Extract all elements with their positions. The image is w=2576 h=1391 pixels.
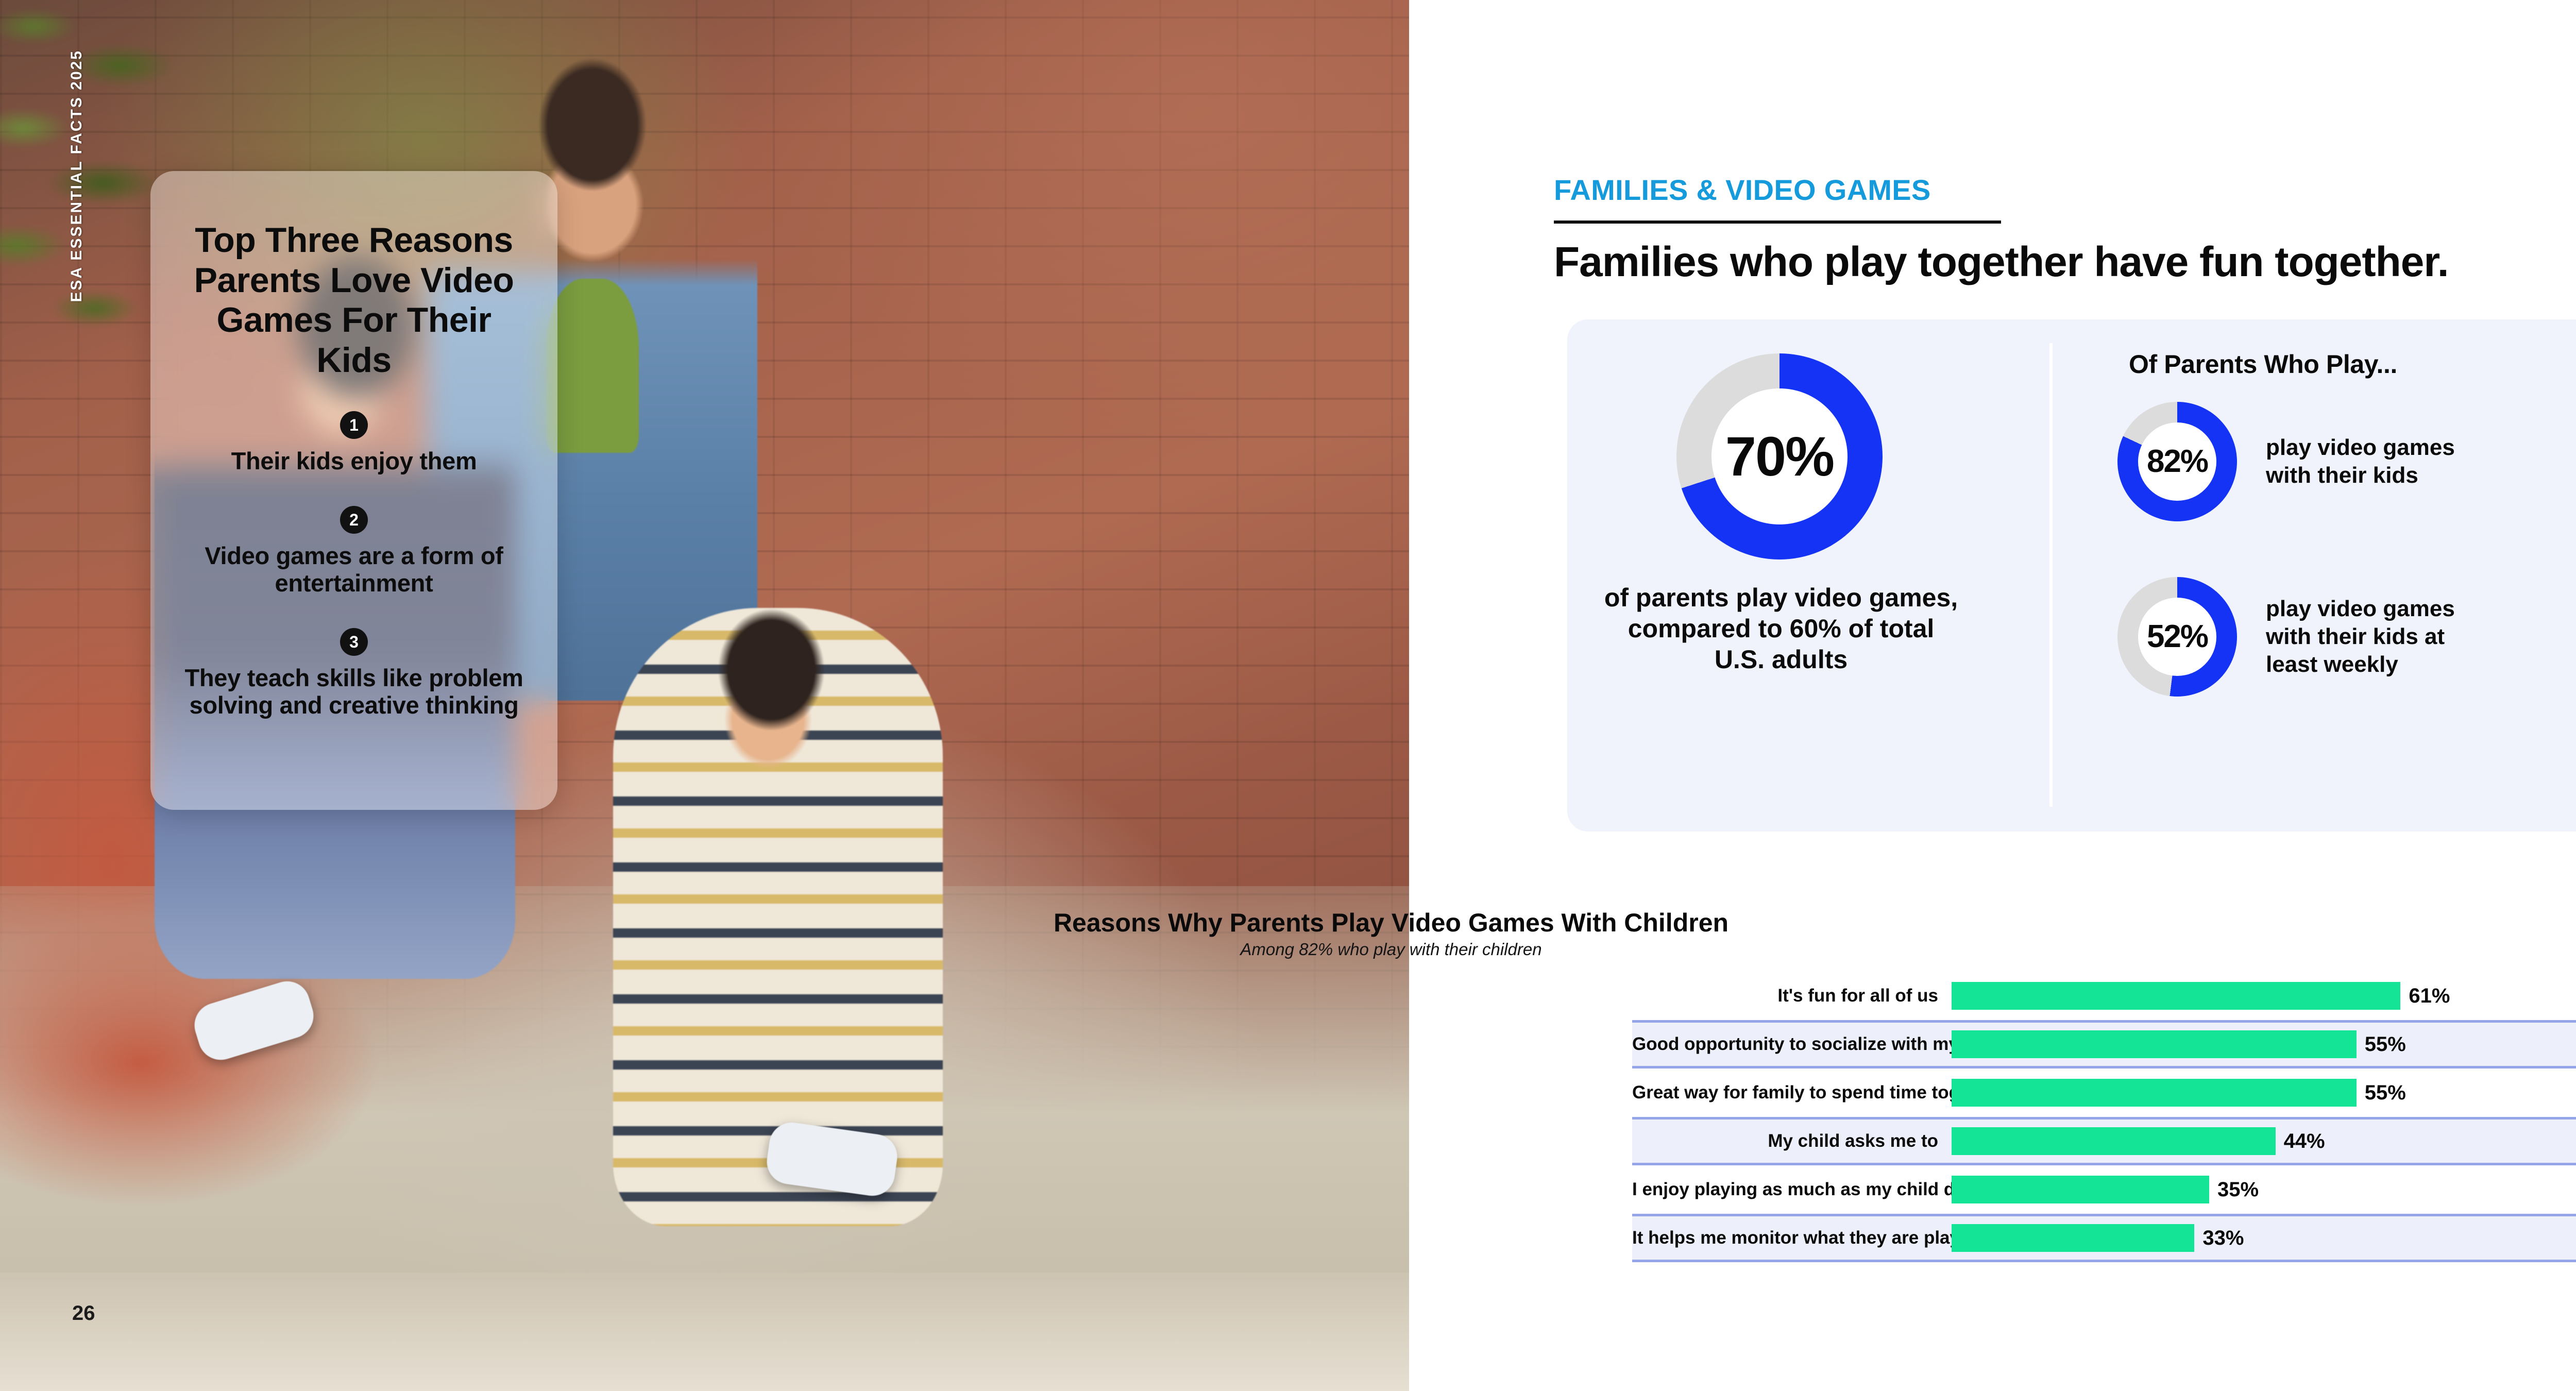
reason-text-3: They teach skills like problem solving a… [179,664,529,719]
bar-track: 33% [1952,1224,2576,1252]
reason-item-1: 1 Their kids enjoy them [179,411,529,475]
bar-chart: It's fun for all of us61%Good opportunit… [1632,972,2576,1262]
bar-category-label: I enjoy playing as much as my child does [1632,1179,1952,1200]
bar-row: My child asks me to44% [1632,1117,2576,1165]
donut-hole-82: 82% [2138,422,2216,501]
page-number-left: 26 [72,1302,95,1325]
stats-panel: 70% of parents play video games, compare… [1567,319,2576,832]
bar-track: 55% [1952,1079,2576,1107]
mini-stat-row-82: 82% play video games with their kids [2117,402,2498,521]
left-page: ESA ESSENTIAL FACTS 2025 26 Top Three Re… [0,0,1409,1391]
reason-text-1: Their kids enjoy them [179,447,529,475]
bar-track: 55% [1952,1030,2576,1058]
section-eyebrow: FAMILIES & VIDEO GAMES [1554,173,1931,207]
bar-value-label: 61% [2409,985,2450,1008]
donut-value-52: 52% [2147,621,2208,653]
bar-row: I enjoy playing as much as my child does… [1632,1165,2576,1214]
mini-stat-row-52: 52% play video games with their kids at … [2117,577,2498,697]
donut-ring-52: 52% [2117,577,2237,697]
side-credit-left: ESA ESSENTIAL FACTS 2025 [68,49,86,302]
panel-divider [2049,343,2053,807]
reason-text-2: Video games are a form of entertainment [179,542,529,597]
bar-fill [1952,1176,2209,1203]
bar-category-label: It helps me monitor what they are playin… [1632,1228,1952,1248]
bar-chart-subtitle: Among 82% who play with their children [0,940,2576,959]
bar-row: Great way for family to spend time toget… [1632,1068,2576,1117]
top-three-reasons-card: Top Three Reasons Parents Love Video Gam… [150,171,557,810]
bar-value-label: 55% [2365,1033,2406,1056]
of-parents-who-play-title: Of Parents Who Play... [2129,349,2397,379]
donut-ring-70: 70% [1676,353,1883,559]
bar-row: Good opportunity to socialize with my ch… [1632,1020,2576,1068]
floor [0,1273,1409,1391]
bar-category-label: Great way for family to spend time toget… [1632,1082,1952,1103]
page-headline: Families who play together have fun toge… [1554,238,2449,286]
reasons-card-title: Top Three Reasons Parents Love Video Gam… [179,220,529,380]
donut-ring-82: 82% [2117,402,2237,521]
bar-track: 35% [1952,1176,2576,1203]
reason-item-2: 2 Video games are a form of entertainmen… [179,506,529,597]
bar-value-label: 55% [2365,1081,2406,1105]
bar-fill [1952,982,2400,1010]
mini-stat-text-52: play video games with their kids at leas… [2266,595,2498,678]
bar-value-label: 33% [2202,1227,2244,1250]
magazine-spread: ESA ESSENTIAL FACTS 2025 26 Top Three Re… [0,0,2576,1391]
bar-row: It helps me monitor what they are playin… [1632,1214,2576,1262]
bar-category-label: It's fun for all of us [1632,986,1952,1006]
donut-hole-70: 70% [1711,388,1848,524]
bar-fill [1952,1127,2276,1155]
reason-number-badge-1: 1 [340,411,368,439]
bar-fill [1952,1079,2357,1107]
bar-chart-title: Reasons Why Parents Play Video Games Wit… [0,908,2576,938]
bar-row: It's fun for all of us61% [1632,972,2576,1020]
reason-item-3: 3 They teach skills like problem solving… [179,628,529,719]
bar-value-label: 44% [2284,1130,2325,1153]
bar-fill [1952,1030,2357,1058]
mini-stat-text-82: play video games with their kids [2266,434,2498,489]
donut-hole-52: 52% [2138,598,2216,676]
primary-donut-chart: 70% [1676,353,1883,559]
donut-value-70: 70% [1725,429,1834,484]
reason-number-badge-2: 2 [340,506,368,534]
donut-value-82: 82% [2147,446,2208,478]
bar-track: 61% [1952,982,2576,1010]
bar-value-label: 35% [2217,1178,2259,1201]
bar-category-label: Good opportunity to socialize with my ch… [1632,1034,1952,1055]
bar-track: 44% [1952,1127,2576,1155]
primary-donut-caption: of parents play video games, compared to… [1603,582,1959,675]
eyebrow-rule [1554,220,2001,224]
bar-category-label: My child asks me to [1632,1131,1952,1151]
bar-fill [1952,1224,2194,1252]
reason-number-badge-3: 3 [340,628,368,656]
